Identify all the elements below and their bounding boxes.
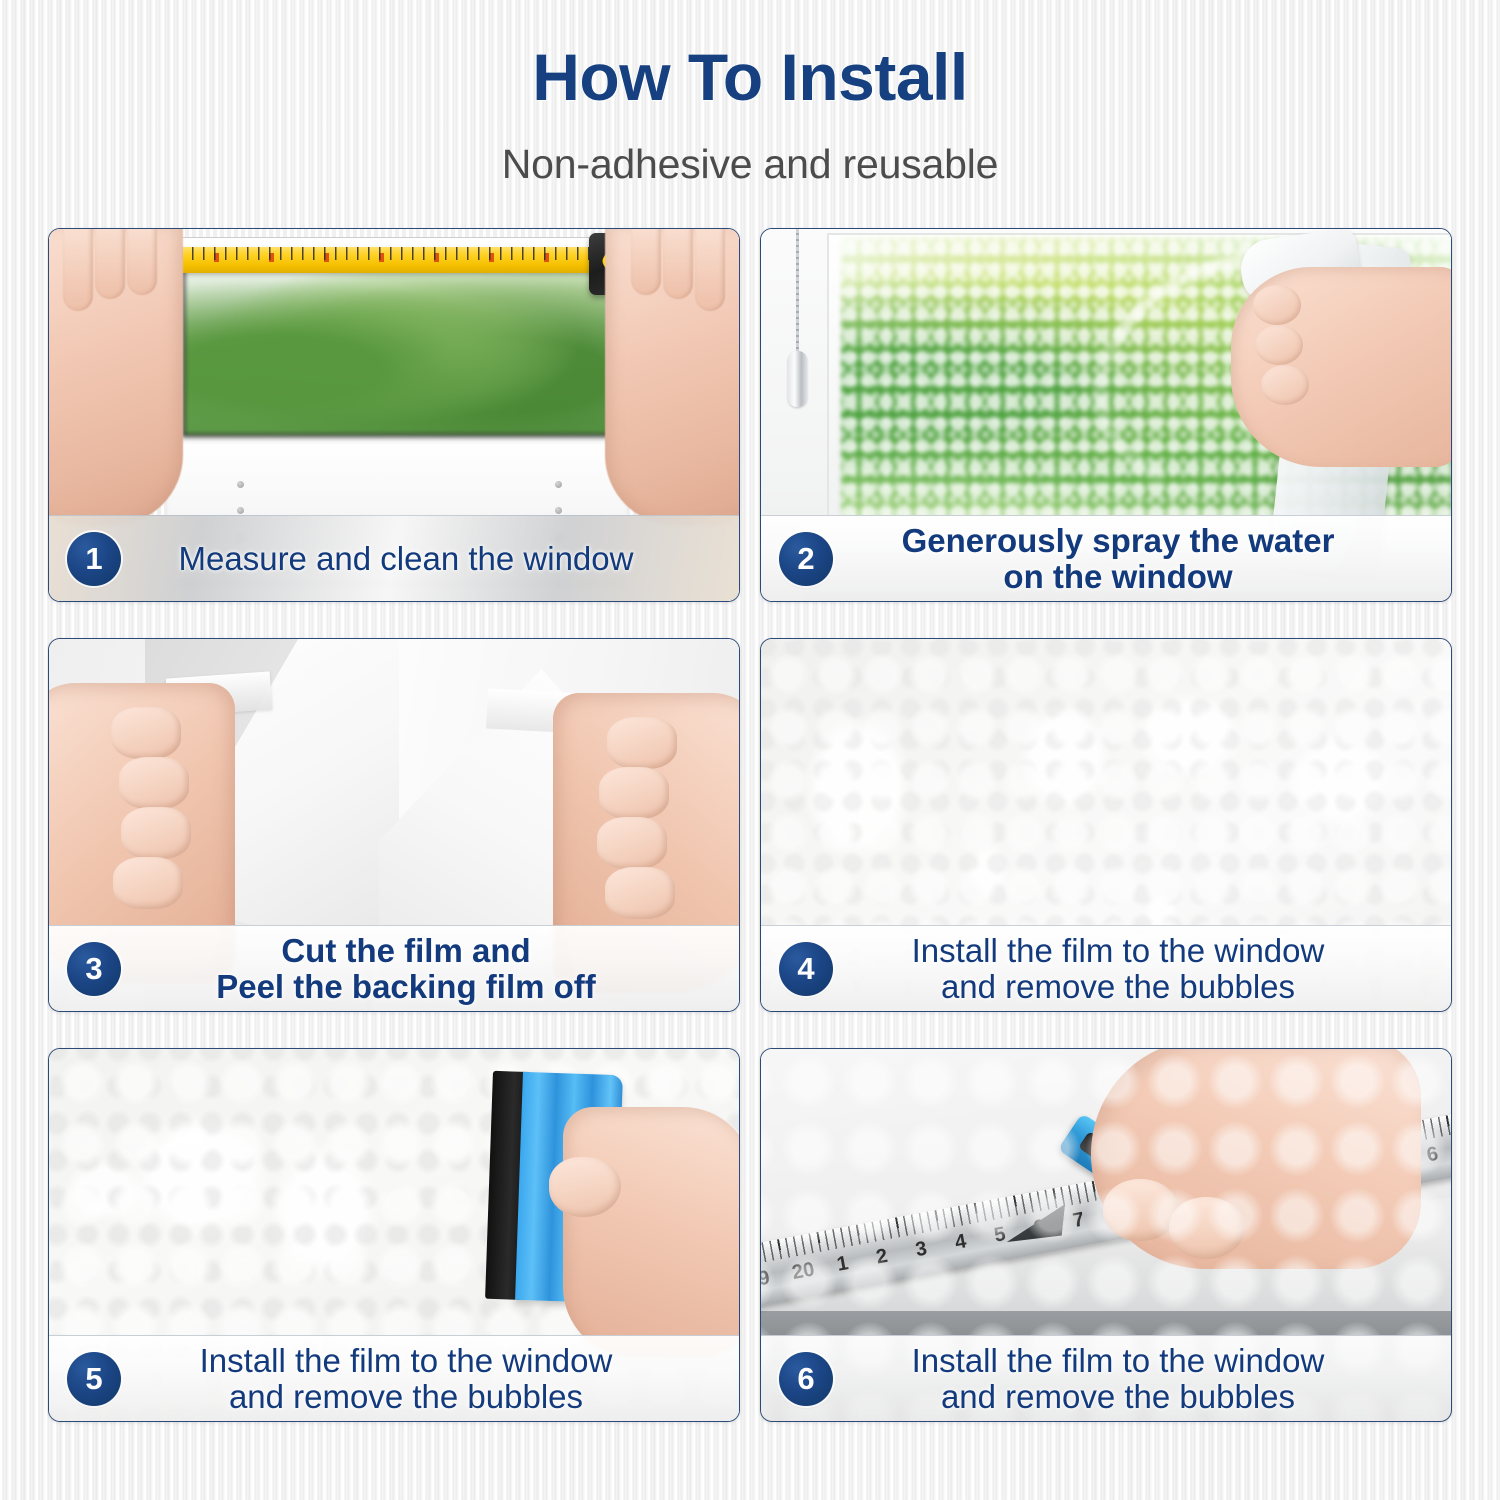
finger	[663, 229, 693, 299]
knuckle	[1253, 285, 1301, 325]
header: How To Install Non-adhesive and reusable	[0, 0, 1500, 185]
step-panel-3: 3 Cut the film and Peel the backing film…	[48, 638, 740, 1012]
finger	[95, 229, 125, 299]
step-4-badge: 4	[779, 942, 833, 996]
blind-chain	[796, 229, 799, 359]
step-6-photo: 920123456789301234567894012345678 6 Inst…	[761, 1049, 1451, 1421]
steps-grid: 1 Measure and clean the window	[48, 228, 1452, 1422]
step-4-photo: 4 Install the film to the window and rem…	[761, 639, 1451, 1011]
left-hand	[49, 229, 183, 525]
screw-icon	[237, 481, 244, 488]
step-3-badge: 3	[67, 942, 121, 996]
step-5-caption-text: Install the film to the window and remov…	[121, 1343, 739, 1414]
step-5-caption-bar: 5 Install the film to the window and rem…	[49, 1335, 739, 1421]
finger	[119, 757, 189, 809]
step-2-caption-bar: 2 Generously spray the water on the wind…	[761, 515, 1451, 601]
finger	[607, 717, 677, 769]
thumb	[549, 1157, 621, 1217]
blind-chain-weight	[788, 351, 807, 407]
knuckle	[1255, 325, 1303, 365]
finger	[113, 857, 183, 909]
step-panel-4: 4 Install the film to the window and rem…	[760, 638, 1452, 1012]
step-2-photo: 2 Generously spray the water on the wind…	[761, 229, 1451, 601]
tape-measure-ticks	[159, 247, 599, 273]
finger	[695, 229, 725, 311]
step-6-caption-bar: 6 Install the film to the window and rem…	[761, 1335, 1451, 1421]
step-3-photo: 3 Cut the film and Peel the backing film…	[49, 639, 739, 1011]
screw-icon	[555, 481, 562, 488]
step-panel-2: 2 Generously spray the water on the wind…	[760, 228, 1452, 602]
infographic-page: How To Install Non-adhesive and reusable	[0, 0, 1500, 1500]
step-4-caption-bar: 4 Install the film to the window and rem…	[761, 925, 1451, 1011]
finger	[599, 767, 669, 819]
step-panel-1: 1 Measure and clean the window	[48, 228, 740, 602]
page-subtitle: Non-adhesive and reusable	[0, 110, 1500, 185]
finger	[127, 229, 157, 295]
step-panel-6: 920123456789301234567894012345678 6 Inst…	[760, 1048, 1452, 1422]
step-1-badge: 1	[67, 532, 121, 586]
step-6-caption-text: Install the film to the window and remov…	[833, 1343, 1451, 1414]
finger	[605, 867, 675, 919]
step-5-photo: 3M 5 Install the film to the window and …	[49, 1049, 739, 1421]
step-2-badge: 2	[779, 532, 833, 586]
finger	[63, 229, 93, 311]
step-1-caption-bar: 1 Measure and clean the window	[49, 515, 739, 601]
step-panel-5: 3M 5 Install the film to the window and …	[48, 1048, 740, 1422]
page-title: How To Install	[0, 44, 1500, 110]
right-hand	[563, 1107, 739, 1357]
step-1-photo: 1 Measure and clean the window	[49, 229, 739, 601]
tape-measure-blade	[159, 247, 599, 273]
finger	[121, 807, 191, 859]
step-1-caption-text: Measure and clean the window	[121, 541, 739, 577]
step-4-caption-text: Install the film to the window and remov…	[833, 933, 1451, 1004]
step-2-caption-text: Generously spray the water on the window	[833, 523, 1451, 594]
step-3-caption-text: Cut the film and Peel the backing film o…	[121, 933, 739, 1004]
right-hand	[605, 229, 739, 525]
window-glass-trees	[182, 259, 612, 437]
screw-icon	[555, 507, 562, 514]
step-6-badge: 6	[779, 1352, 833, 1406]
finger	[631, 229, 661, 295]
knuckle	[1261, 365, 1309, 405]
right-hand	[1231, 267, 1451, 467]
step-3-caption-bar: 3 Cut the film and Peel the backing film…	[49, 925, 739, 1011]
screw-icon	[237, 507, 244, 514]
finger	[111, 707, 181, 759]
finger	[597, 817, 667, 869]
step-5-badge: 5	[67, 1352, 121, 1406]
